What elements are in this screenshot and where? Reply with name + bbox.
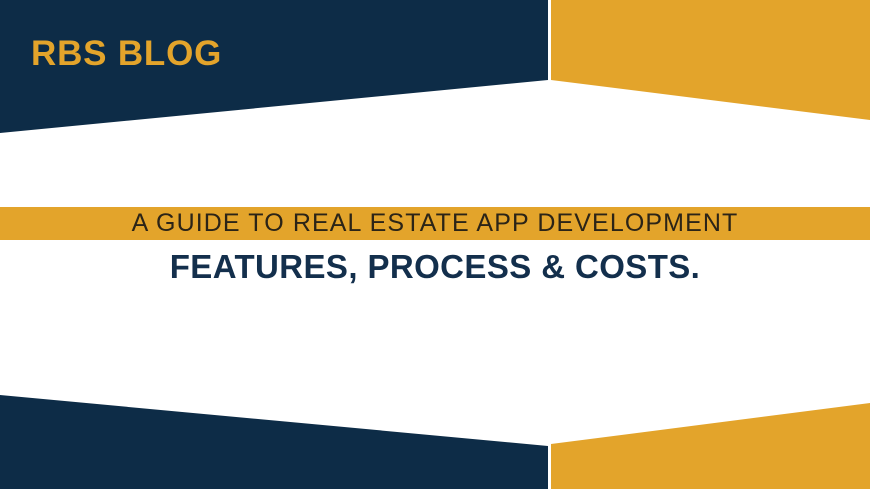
headline-secondary: FEATURES, PROCESS & COSTS. [0, 247, 870, 287]
headline-primary: A GUIDE TO REAL ESTATE APP DEVELOPMENT [0, 206, 870, 240]
blog-banner-card: RBS BLOG A GUIDE TO REAL ESTATE APP DEVE… [0, 0, 870, 489]
brand-wordmark: RBS BLOG [31, 36, 222, 71]
headline-block: A GUIDE TO REAL ESTATE APP DEVELOPMENT F… [0, 206, 870, 287]
